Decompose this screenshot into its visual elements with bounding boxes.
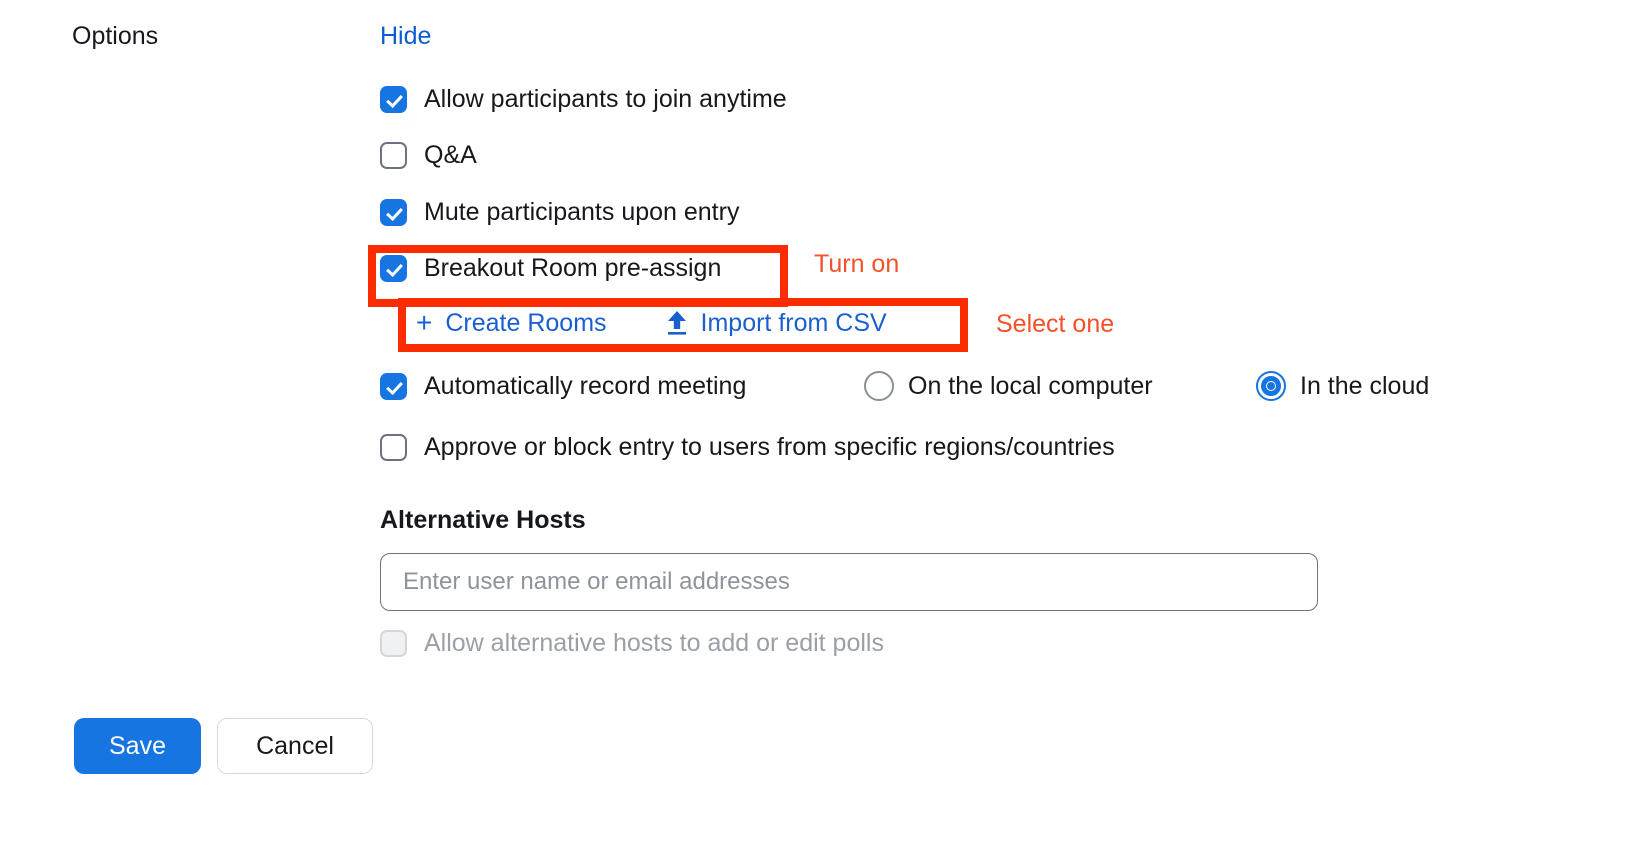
options-panel: Options Hide Allow participants to join … <box>0 0 1640 844</box>
option-label-mute-on-entry: Mute participants upon entry <box>424 197 739 227</box>
option-label-allow-join-anytime: Allow participants to join anytime <box>424 84 787 114</box>
annotation-turn-on: Turn on <box>814 249 899 279</box>
checkbox-auto-record[interactable] <box>380 373 407 400</box>
plus-icon: + <box>416 309 432 337</box>
hide-options-link[interactable]: Hide <box>380 20 431 52</box>
checkbox-approve-block-regions[interactable] <box>380 434 407 461</box>
checkbox-breakout-room-preassign[interactable] <box>380 255 407 282</box>
upload-icon <box>665 310 689 336</box>
radio-option-record-cloud[interactable]: In the cloud <box>1256 369 1429 403</box>
option-row-qa[interactable]: Q&A <box>380 138 477 172</box>
radio-label-record-local: On the local computer <box>908 371 1153 401</box>
option-label-breakout-room-preassign: Breakout Room pre-assign <box>424 253 721 283</box>
alternative-hosts-title: Alternative Hosts <box>380 505 586 535</box>
option-row-auto-record[interactable]: Automatically record meeting <box>380 369 746 403</box>
option-row-mute-on-entry[interactable]: Mute participants upon entry <box>380 195 739 229</box>
option-label-auto-record: Automatically record meeting <box>424 371 746 401</box>
checkbox-allow-join-anytime[interactable] <box>380 86 407 113</box>
import-from-csv-button[interactable]: Import from CSV <box>665 308 887 338</box>
import-from-csv-label: Import from CSV <box>701 308 887 338</box>
option-row-allow-join-anytime[interactable]: Allow participants to join anytime <box>380 82 787 116</box>
radio-record-local[interactable] <box>864 371 894 401</box>
create-rooms-label: Create Rooms <box>445 308 606 338</box>
option-label-qa: Q&A <box>424 140 477 170</box>
create-rooms-button[interactable]: + Create Rooms <box>416 308 607 338</box>
breakout-actions: + Create Rooms Import from CSV <box>416 308 887 338</box>
annotation-select-one: Select one <box>996 309 1114 339</box>
alternative-hosts-input[interactable] <box>380 553 1318 611</box>
radio-label-record-cloud: In the cloud <box>1300 371 1429 401</box>
option-row-alt-hosts-polls: Allow alternative hosts to add or edit p… <box>380 626 884 660</box>
options-section-label: Options <box>72 20 158 52</box>
option-row-approve-block-regions[interactable]: Approve or block entry to users from spe… <box>380 430 1115 464</box>
checkbox-qa[interactable] <box>380 142 407 169</box>
save-button[interactable]: Save <box>74 718 201 774</box>
option-label-alt-hosts-polls: Allow alternative hosts to add or edit p… <box>424 628 884 658</box>
radio-record-cloud[interactable] <box>1256 371 1286 401</box>
checkbox-mute-on-entry[interactable] <box>380 199 407 226</box>
radio-option-record-local[interactable]: On the local computer <box>864 369 1153 403</box>
checkbox-alt-hosts-polls <box>380 630 407 657</box>
option-row-breakout-room-preassign[interactable]: Breakout Room pre-assign <box>380 251 721 285</box>
cancel-button[interactable]: Cancel <box>217 718 373 774</box>
option-label-approve-block-regions: Approve or block entry to users from spe… <box>424 432 1115 462</box>
